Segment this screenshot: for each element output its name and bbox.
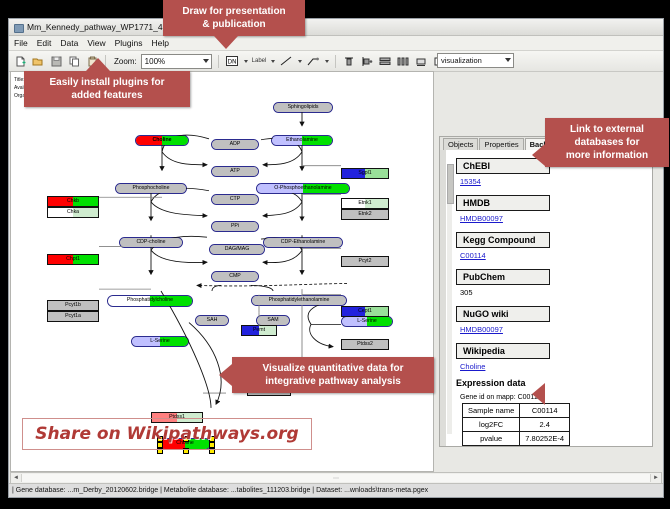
menu-item-view[interactable]: View	[87, 38, 105, 48]
status-bar-text: | Gene database: ...m_Derby_20120602.bri…	[12, 487, 428, 494]
metabolite-node-sam[interactable]: SAM	[256, 315, 290, 326]
gene-node-ptdss2[interactable]: Ptdss2	[341, 339, 389, 350]
node-label: Choline	[152, 138, 171, 143]
metabolite-node-phosphocholine[interactable]: Phosphocholine	[115, 183, 187, 194]
gene-node-etnk2[interactable]: Etnk2	[341, 209, 389, 220]
toolbar-separator	[218, 55, 219, 68]
node-label: CMP	[229, 274, 241, 279]
db-header-nugo-wiki: NuGO wiki	[456, 306, 550, 322]
node-label: Sgpl1	[358, 171, 371, 176]
visualization-combobox[interactable]: visualization	[437, 53, 514, 68]
label-tool-button[interactable]: Label	[252, 58, 267, 64]
node-label: Ptdss2	[357, 342, 373, 347]
callout-plugins: Easily install plugins for added feature…	[24, 71, 190, 107]
node-label: CDP-Ethanolamine	[281, 240, 325, 245]
db-header-kegg: Kegg Compound	[456, 232, 550, 248]
node-label: Chpt1	[66, 257, 80, 262]
node-label: Etnk1	[358, 201, 371, 206]
cell-key: pvalue	[463, 432, 520, 446]
scroll-left-icon[interactable]: ◄	[11, 474, 21, 482]
chevron-down-icon[interactable]	[325, 60, 329, 63]
side-panel: Objects Properties Backpage Search Legen…	[439, 136, 653, 447]
pathway-canvas-surface[interactable]: Title: Availa Organi	[11, 72, 433, 471]
stack-icon[interactable]	[378, 54, 392, 68]
node-label: Phosphatidylethanolamine	[269, 298, 330, 303]
toolbar-separator	[335, 55, 336, 68]
zoom-combobox[interactable]: 100%	[141, 54, 212, 69]
svg-text:DN: DN	[227, 59, 236, 66]
gene-id-on-mapp: Gene id on mapp: C00114	[460, 394, 652, 401]
metabolite-node-o-phosphoethanolamine[interactable]: O-Phosphoethanolamine	[256, 183, 350, 194]
chevron-down-icon[interactable]	[298, 60, 302, 63]
node-label: Phosphatidylcholine	[127, 298, 173, 303]
zoom-label: Zoom:	[114, 57, 137, 66]
backpage-scrollbar[interactable]	[447, 164, 452, 434]
zoom-value: 100%	[145, 57, 165, 66]
scroll-right-icon[interactable]: ►	[651, 474, 661, 482]
gene-node-pemt[interactable]: Pemt	[241, 325, 277, 336]
tab-objects[interactable]: Objects	[443, 138, 478, 150]
gene-node-chpt1[interactable]: Chpt1	[47, 254, 99, 265]
table-row: Sample name C00114	[463, 404, 570, 418]
db-link-nugo-wiki[interactable]: HMDB00097	[460, 325, 652, 334]
metabolite-node-l-serine[interactable]: L-Serine	[131, 336, 189, 347]
cell-key: log2FC	[463, 418, 520, 432]
chevron-down-icon	[505, 58, 511, 62]
gene-node-chkb[interactable]: Chkb	[47, 196, 99, 207]
node-label: Sphingolipids	[288, 105, 319, 110]
callout-visualize-arrow-right-icon	[532, 383, 545, 405]
save-disk-icon[interactable]	[49, 54, 63, 68]
backpage-scrollbar-thumb[interactable]	[447, 164, 454, 204]
node-label: PPi	[231, 224, 239, 229]
callout-share-text: Share on Wikipathways.org	[35, 424, 298, 444]
node-label: O-Phosphoethanolamine	[274, 186, 331, 191]
callout-links-line3: more information	[553, 149, 661, 162]
expression-table: Sample name C00114 log2FC 2.4 pvalue 7.8…	[462, 403, 570, 446]
distribute-icon[interactable]	[396, 54, 410, 68]
callout-links: Link to external databases for more info…	[545, 118, 669, 167]
metabolite-node-atp[interactable]: ATP	[211, 166, 259, 177]
menu-item-help[interactable]: Help	[152, 38, 169, 48]
menu-item-edit[interactable]: Edit	[37, 38, 52, 48]
tab-properties[interactable]: Properties	[479, 138, 523, 150]
metabolite-node-cdp-choline[interactable]: CDP-choline	[119, 237, 183, 248]
menu-bar: File Edit Data View Plugins Help	[9, 36, 663, 51]
db-value-pubchem: 305	[460, 288, 652, 297]
db-header-pubchem: PubChem	[456, 269, 550, 285]
callout-draw-line2: & publication	[171, 18, 297, 31]
gene-node-pcyt2[interactable]: Pcyt2	[341, 256, 389, 267]
table-row: type met	[463, 446, 570, 447]
gene-node-cept1[interactable]: Cept1	[341, 306, 389, 317]
db-link-wikipedia[interactable]: Choline	[460, 362, 652, 371]
status-bar: | Gene database: ...m_Derby_20120602.bri…	[9, 483, 663, 497]
metabolite-node-cmp[interactable]: CMP	[211, 271, 259, 282]
callout-visualize-line1: Visualize quantitative data for	[240, 362, 426, 375]
chevron-down-icon[interactable]	[244, 60, 248, 63]
metabolite-node-ppi[interactable]: PPi	[211, 221, 259, 232]
visualization-value: visualization	[441, 56, 482, 65]
expression-data-title: Expression data	[456, 378, 652, 388]
metabolite-node-ethanolamine[interactable]: Ethanolamine	[271, 135, 333, 146]
gene-node-pcyt1a[interactable]: Pcyt1a	[47, 311, 99, 322]
cell-value: met	[520, 446, 570, 447]
db-link-chebi[interactable]: 15354	[460, 177, 652, 186]
callout-visualize-arrow-icon	[219, 364, 232, 386]
metabolite-node-l-serine[interactable]: L-Serine	[341, 316, 393, 327]
callout-visualize-line2: integrative pathway analysis	[240, 375, 426, 388]
callout-share: Share on Wikipathways.org	[22, 418, 312, 450]
metabolite-node-sphingolipids[interactable]: Sphingolipids	[273, 102, 333, 113]
menu-item-data[interactable]: Data	[60, 38, 78, 48]
callout-draw: Draw for presentation & publication	[163, 0, 305, 36]
callout-plugins-arrow-icon	[86, 58, 110, 71]
callout-plugins-line1: Easily install plugins for	[32, 76, 182, 89]
node-label: Cept1	[358, 309, 372, 314]
node-label: CDP-choline	[136, 240, 165, 245]
pathway-canvas[interactable]: Title: Availa Organi	[10, 71, 434, 472]
callout-draw-line1: Draw for presentation	[171, 5, 297, 18]
db-header-wikipedia: Wikipedia	[456, 343, 550, 359]
chevron-down-icon[interactable]	[271, 60, 275, 63]
metabolite-node-choline[interactable]: Choline	[135, 135, 189, 146]
cell-key: Sample name	[463, 404, 520, 418]
node-label: Phosphocholine	[133, 186, 170, 191]
node-label: SAH	[207, 318, 218, 323]
node-label: L-Serine	[150, 339, 170, 344]
menu-item-file[interactable]: File	[14, 38, 28, 48]
interaction-tool-icon[interactable]	[306, 54, 320, 68]
node-label: CTP	[230, 197, 240, 202]
callout-links-line2: databases for	[553, 136, 661, 149]
align-top-icon[interactable]	[342, 54, 356, 68]
scrollbar-track[interactable]: ⋯	[21, 474, 651, 482]
metabolite-node-cdp-ethanolamine[interactable]: CDP-Ethanolamine	[263, 237, 343, 248]
align-left-icon[interactable]	[360, 54, 374, 68]
title-bar: Mm_Kennedy_pathway_WP1771_45176.gpml	[9, 19, 663, 36]
same-size-icon[interactable]	[414, 54, 428, 68]
datanode-tool-icon[interactable]: DN	[225, 54, 239, 68]
menu-item-plugins[interactable]: Plugins	[115, 38, 143, 48]
screenshot-root: Mm_Kennedy_pathway_WP1771_45176.gpml Fil…	[0, 0, 670, 509]
node-label: Pcyt2	[359, 259, 372, 264]
cell-value: C00114	[520, 404, 570, 418]
node-label: Chkb	[67, 199, 79, 204]
node-label: Chka	[67, 210, 79, 215]
node-label: Pemt	[253, 328, 265, 333]
metabolite-node-sah[interactable]: SAH	[195, 315, 229, 326]
table-row: log2FC 2.4	[463, 418, 570, 432]
callout-plugins-line2: added features	[32, 89, 182, 102]
gene-node-chka[interactable]: Chka	[47, 207, 99, 218]
callout-draw-arrow-icon	[214, 36, 238, 49]
node-label: Pcyt1a	[65, 314, 81, 319]
metabolite-node-phosphatidylethanolamine[interactable]: Phosphatidylethanolamine	[251, 295, 347, 306]
table-row: pvalue 7.80252E-4	[463, 432, 570, 446]
node-label: ATP	[230, 169, 240, 174]
gene-node-etnk1[interactable]: Etnk1	[341, 198, 389, 209]
cell-value: 2.4	[520, 418, 570, 432]
new-file-icon[interactable]	[13, 54, 27, 68]
metabolite-node-dag-mag[interactable]: DAG/MAG	[209, 244, 265, 255]
callout-links-arrow-icon	[532, 144, 545, 166]
node-label: Etnk2	[358, 212, 371, 217]
node-label: DAG/MAG	[225, 247, 250, 252]
node-label: SAM	[267, 318, 278, 323]
db-link-kegg[interactable]: C00114	[460, 251, 652, 260]
node-label: ADP	[230, 142, 241, 147]
backpage-inner: ChEBI 15354 HMDB HMDB00097 Kegg Compound…	[446, 150, 652, 446]
node-label: L-Serine	[357, 319, 377, 324]
db-header-hmdb: HMDB	[456, 195, 550, 211]
node-label: Pcyt1b	[65, 303, 81, 308]
chevron-down-icon	[203, 59, 209, 63]
gene-node-pcyt1b[interactable]: Pcyt1b	[47, 300, 99, 311]
backpage-content: ChEBI 15354 HMDB HMDB00097 Kegg Compound…	[440, 150, 652, 446]
metabolite-node-ctp[interactable]: CTP	[211, 194, 259, 205]
copy-icon[interactable]	[67, 54, 81, 68]
cell-key: type	[463, 446, 520, 447]
node-label: Ethanolamine	[286, 138, 318, 143]
callout-visualize: Visualize quantitative data for integrat…	[232, 357, 434, 393]
cell-value: 7.80252E-4	[520, 432, 570, 446]
gene-node-sgpl1[interactable]: Sgpl1	[341, 168, 389, 179]
metabolite-node-phosphatidylcholine[interactable]: Phosphatidylcholine	[107, 295, 193, 307]
app-icon	[13, 22, 23, 32]
callout-links-line1: Link to external	[553, 123, 661, 136]
metabolite-node-adp[interactable]: ADP	[211, 139, 259, 150]
line-tool-icon[interactable]	[279, 54, 293, 68]
open-folder-icon[interactable]	[31, 54, 45, 68]
db-link-hmdb[interactable]: HMDB00097	[460, 214, 652, 223]
